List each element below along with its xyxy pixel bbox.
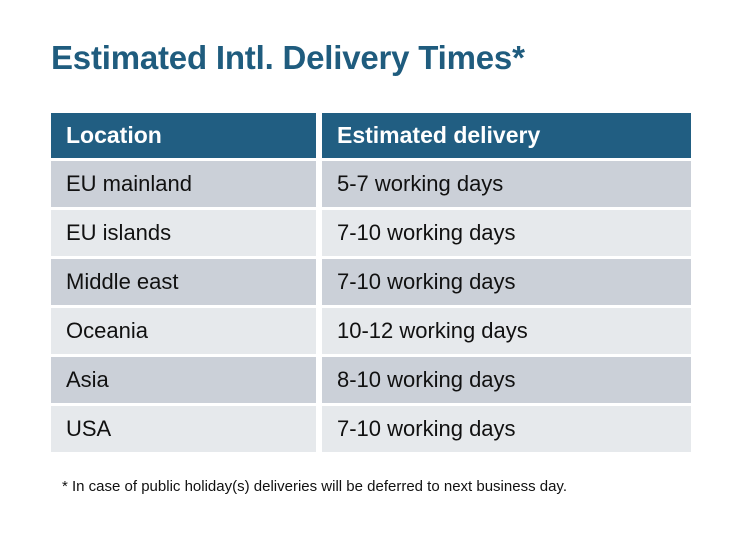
delivery-times-table: Location Estimated delivery EU mainland … (51, 113, 691, 452)
table-row: EU islands 7-10 working days (51, 210, 691, 256)
cell-location: USA (51, 406, 316, 452)
table-row: USA 7-10 working days (51, 406, 691, 452)
delivery-times-page: Estimated Intl. Delivery Times* Location… (0, 0, 745, 536)
cell-delivery: 5-7 working days (322, 161, 691, 207)
cell-location: Oceania (51, 308, 316, 354)
cell-location: EU mainland (51, 161, 316, 207)
cell-location: Asia (51, 357, 316, 403)
table-row: Asia 8-10 working days (51, 357, 691, 403)
table-row: EU mainland 5-7 working days (51, 161, 691, 207)
cell-delivery: 10-12 working days (322, 308, 691, 354)
table-row: Middle east 7-10 working days (51, 259, 691, 305)
cell-delivery: 7-10 working days (322, 259, 691, 305)
cell-location: EU islands (51, 210, 316, 256)
cell-delivery: 7-10 working days (322, 406, 691, 452)
table-row: Oceania 10-12 working days (51, 308, 691, 354)
table-header-row: Location Estimated delivery (51, 113, 691, 158)
cell-delivery: 7-10 working days (322, 210, 691, 256)
footnote-text: * In case of public holiday(s) deliverie… (62, 478, 567, 495)
column-header-location: Location (51, 113, 316, 158)
column-header-estimated-delivery: Estimated delivery (322, 113, 691, 158)
cell-location: Middle east (51, 259, 316, 305)
cell-delivery: 8-10 working days (322, 357, 691, 403)
page-title: Estimated Intl. Delivery Times* (51, 38, 525, 78)
